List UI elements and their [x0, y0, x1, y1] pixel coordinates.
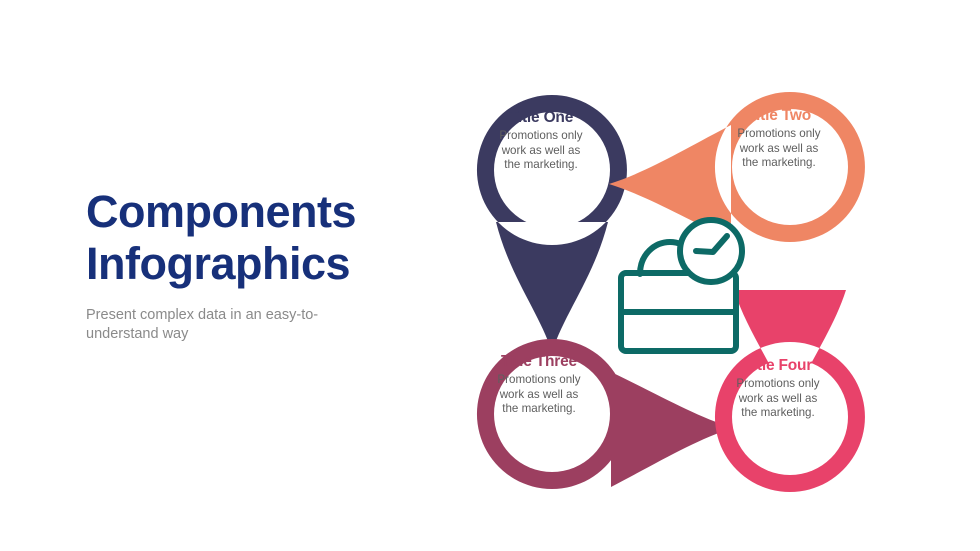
pins-svg — [455, 62, 895, 492]
pin-one-inner — [494, 112, 610, 228]
briefcase-clock-icon — [621, 220, 742, 351]
heading-block: Components Infographics Present complex … — [86, 186, 386, 344]
pin-one[interactable] — [477, 95, 627, 352]
pin-four-inner — [732, 359, 848, 475]
infographic-diagram: Title One Promotions only work as well a… — [455, 62, 895, 492]
pin-three[interactable] — [477, 339, 733, 489]
pin-two[interactable] — [609, 92, 865, 242]
page-subtitle: Present complex data in an easy-to-under… — [86, 306, 344, 344]
pin-three-inner — [494, 356, 610, 472]
page-title: Components Infographics — [86, 186, 386, 290]
pin-two-inner — [732, 109, 848, 225]
slide-canvas: Components Infographics Present complex … — [0, 0, 980, 551]
